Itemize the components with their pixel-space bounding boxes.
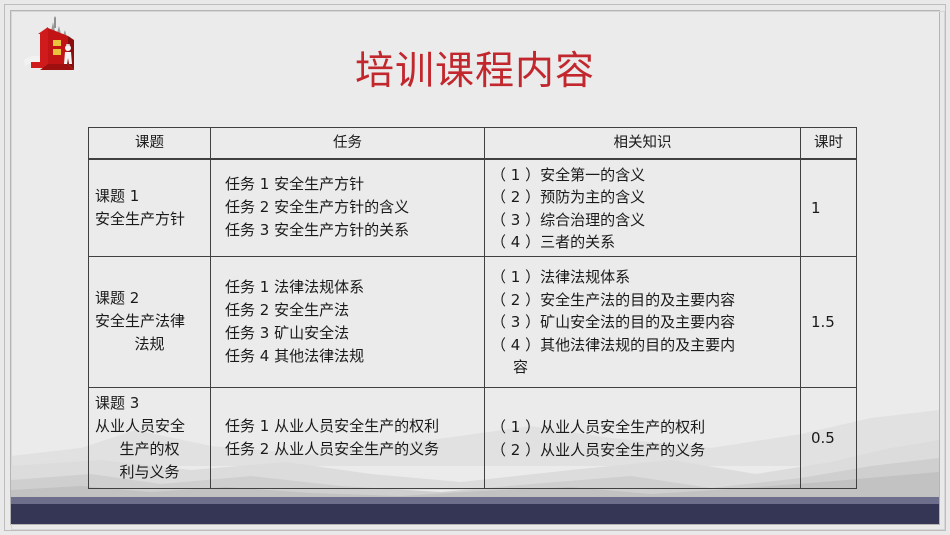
- task-line: 任务 2 从业人员安全生产的义务: [225, 438, 484, 461]
- knowledge-line: 容: [491, 356, 800, 379]
- table-row: 课题 1 安全生产方针 任务 1 安全生产方针 任务 2 安全生产方针的含义 任…: [89, 159, 857, 257]
- table-row: 课题 2 安全生产法律 法规 任务 1 法律法规体系 任务 2 安全生产法 任务…: [89, 256, 857, 387]
- cell-topic: 课题 2 安全生产法律 法规: [89, 256, 211, 387]
- column-header-task: 任务: [211, 128, 485, 159]
- topic-line: 从业人员安全: [95, 415, 204, 438]
- column-header-knowledge: 相关知识: [485, 128, 801, 159]
- topic-line: 课题 2: [95, 287, 204, 310]
- slide-canvas: 培训课程内容 课题 任务 相关知识 课时 课题 1 安全生产方针: [0, 0, 950, 535]
- task-line: 任务 3 安全生产方针的关系: [225, 219, 484, 242]
- knowledge-line: （ 1 ）法律法规体系: [491, 266, 800, 289]
- topic-line: 安全生产法律: [95, 310, 204, 333]
- task-line: 任务 3 矿山安全法: [225, 322, 484, 345]
- cell-task: 任务 1 安全生产方针 任务 2 安全生产方针的含义 任务 3 安全生产方针的关…: [211, 159, 485, 257]
- cell-knowledge: （ 1 ）安全第一的含义 （ 2 ）预防为主的含义 （ 3 ）综合治理的含义 （…: [485, 159, 801, 257]
- course-table: 课题 任务 相关知识 课时 课题 1 安全生产方针 任务 1 安全生产方针 任务…: [88, 127, 857, 489]
- task-line: 任务 1 法律法规体系: [225, 276, 484, 299]
- knowledge-line: （ 2 ）预防为主的含义: [491, 186, 800, 209]
- table-row: 课题 3 从业人员安全 生产的权 利与义务 任务 1 从业人员安全生产的权利 任…: [89, 387, 857, 488]
- cell-knowledge: （ 1 ）从业人员安全生产的权利 （ 2 ）从业人员安全生产的义务: [485, 387, 801, 488]
- topic-line: 安全生产方针: [95, 208, 204, 231]
- knowledge-line: （ 2 ）从业人员安全生产的义务: [491, 439, 800, 462]
- cell-hours: 1.5: [801, 256, 857, 387]
- topic-line: 利与义务: [95, 461, 204, 484]
- knowledge-line: （ 1 ）从业人员安全生产的权利: [491, 416, 800, 439]
- cell-task: 任务 1 从业人员安全生产的权利 任务 2 从业人员安全生产的义务: [211, 387, 485, 488]
- task-line: 任务 1 从业人员安全生产的权利: [225, 415, 484, 438]
- topic-line: 课题 1: [95, 185, 204, 208]
- cell-knowledge: （ 1 ）法律法规体系 （ 2 ）安全生产法的目的及主要内容 （ 3 ）矿山安全…: [485, 256, 801, 387]
- knowledge-line: （ 1 ）安全第一的含义: [491, 164, 800, 187]
- cell-topic: 课题 3 从业人员安全 生产的权 利与义务: [89, 387, 211, 488]
- cell-topic: 课题 1 安全生产方针: [89, 159, 211, 257]
- task-line: 任务 2 安全生产方针的含义: [225, 196, 484, 219]
- column-header-hours: 课时: [801, 128, 857, 159]
- page-title: 培训课程内容: [0, 48, 950, 96]
- cell-hours: 1: [801, 159, 857, 257]
- task-line: 任务 4 其他法律法规: [225, 345, 484, 368]
- task-line: 任务 1 安全生产方针: [225, 173, 484, 196]
- knowledge-line: （ 4 ）其他法律法规的目的及主要内: [491, 334, 800, 357]
- cell-hours: 0.5: [801, 387, 857, 488]
- topic-line: 法规: [95, 333, 204, 356]
- task-line: 任务 2 安全生产法: [225, 299, 484, 322]
- topic-line: 生产的权: [95, 438, 204, 461]
- knowledge-line: （ 3 ）矿山安全法的目的及主要内容: [491, 311, 800, 334]
- knowledge-line: （ 2 ）安全生产法的目的及主要内容: [491, 289, 800, 312]
- knowledge-line: （ 4 ）三者的关系: [491, 231, 800, 254]
- column-header-topic: 课题: [89, 128, 211, 159]
- topic-line: 课题 3: [95, 392, 204, 415]
- knowledge-line: （ 3 ）综合治理的含义: [491, 209, 800, 232]
- table-header-row: 课题 任务 相关知识 课时: [89, 128, 857, 159]
- course-table-container: 课题 任务 相关知识 课时 课题 1 安全生产方针 任务 1 安全生产方针 任务…: [88, 127, 856, 489]
- cell-task: 任务 1 法律法规体系 任务 2 安全生产法 任务 3 矿山安全法 任务 4 其…: [211, 256, 485, 387]
